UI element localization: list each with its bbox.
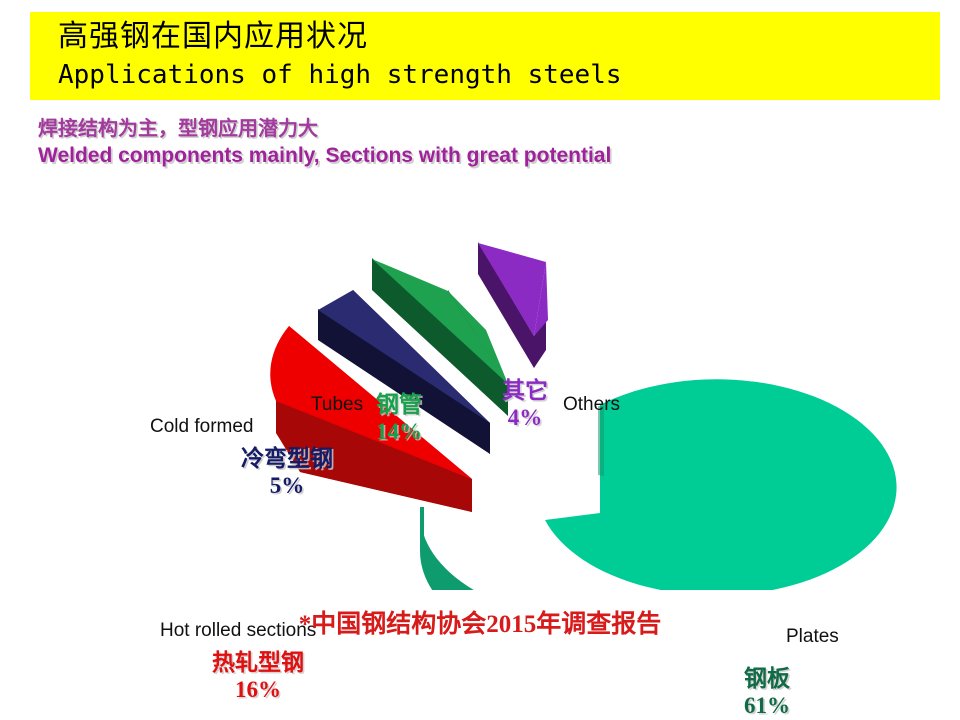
- label-tubes-cn-text: 钢管: [358, 392, 440, 419]
- label-hot-rolled-cn: 热轧型钢 16%: [188, 650, 328, 703]
- label-cold-formed-cn-text: 冷弯型钢: [222, 446, 352, 473]
- label-plates-cn-text: 钢板: [712, 666, 822, 693]
- page-title-cn: 高强钢在国内应用状况: [58, 18, 940, 56]
- pie-slice-plates-side-left: [420, 507, 424, 545]
- label-cold-formed-en: Cold formed: [150, 416, 254, 438]
- page-title-en: Applications of high strength steels: [58, 56, 940, 94]
- label-cold-formed-pct: 5%: [222, 473, 352, 500]
- pie-slice-plates-inner-edge: [598, 406, 604, 476]
- label-hot-rolled-cn-text: 热轧型钢: [188, 650, 328, 677]
- label-others-cn: 其它 4%: [490, 378, 560, 431]
- label-others-pct: 4%: [490, 405, 560, 432]
- footnote-source: *中国钢结构协会2015年调查报告: [0, 604, 960, 640]
- label-others-cn-text: 其它: [490, 378, 560, 405]
- subtitle-en: Welded components mainly, Sections with …: [38, 142, 918, 169]
- label-tubes-cn: 钢管 14%: [358, 392, 440, 445]
- label-cold-formed-cn: 冷弯型钢 5%: [222, 446, 352, 499]
- label-plates-cn: 钢板 61%: [712, 666, 822, 719]
- label-hot-rolled-pct: 16%: [188, 677, 328, 704]
- pie-chart: Tubes Cold formed Others Hot rolled sect…: [0, 180, 960, 590]
- pie-chart-svg: [0, 180, 960, 590]
- label-tubes-pct: 14%: [358, 419, 440, 446]
- subtitle-block: 焊接结构为主，型钢应用潜力大 Welded components mainly,…: [38, 116, 918, 169]
- subtitle-cn: 焊接结构为主，型钢应用潜力大: [38, 116, 918, 142]
- title-banner: 高强钢在国内应用状况 Applications of high strength…: [30, 12, 940, 100]
- label-plates-pct: 61%: [712, 693, 822, 720]
- slide-root: { "slide": { "background_color": "#FFFFF…: [0, 0, 960, 720]
- label-tubes-en: Tubes: [311, 394, 363, 416]
- label-others-en: Others: [563, 394, 620, 416]
